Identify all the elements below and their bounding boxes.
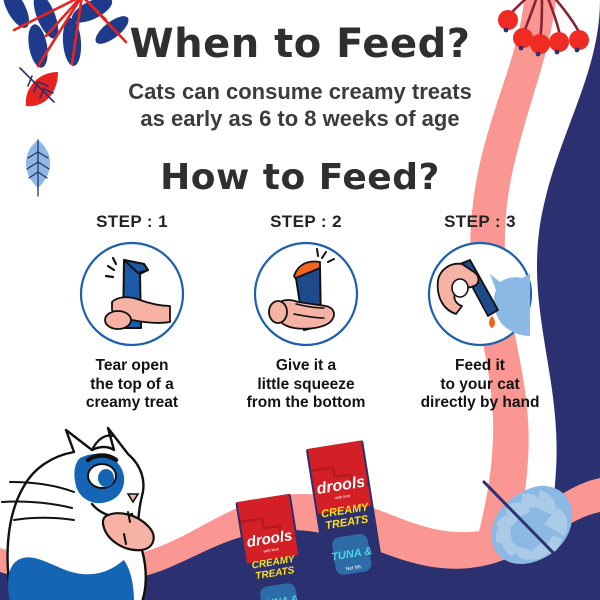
hand-feeding-cat-icon	[426, 240, 534, 348]
page-title-how-to-feed: How to Feed?	[0, 158, 600, 198]
step-1: STEP : 1 Tear	[52, 212, 212, 413]
step-2-label: STEP : 2	[226, 212, 386, 232]
cat-line-art-decor	[0, 420, 206, 600]
step-3: STEP : 3 Feed it to your cat directly by…	[400, 212, 560, 413]
hand-tearing-sachet-icon	[78, 240, 186, 348]
steps-container: STEP : 1 Tear	[52, 212, 560, 413]
hand-squeezing-sachet-icon	[252, 240, 360, 348]
step-1-caption: Tear open the top of a creamy treat	[52, 357, 212, 413]
page-title-when-to-feed: When to Feed?	[0, 22, 600, 66]
step-3-label: STEP : 3	[400, 212, 560, 232]
step-1-label: STEP : 1	[52, 212, 212, 232]
step-2-caption: Give it a little squeeze from the bottom	[226, 357, 386, 413]
subtitle-text: Cats can consume creamy treats as early …	[0, 78, 600, 132]
light-blue-large-leaf-decor	[478, 478, 588, 588]
product-sachets: drools with love CREAMY TREATS TUNA & dr…	[225, 438, 405, 600]
poster-canvas: When to Feed? Cats can consume creamy tr…	[0, 0, 600, 600]
step-2: STEP : 2	[226, 212, 386, 413]
step-3-caption: Feed it to your cat directly by hand	[400, 357, 560, 413]
